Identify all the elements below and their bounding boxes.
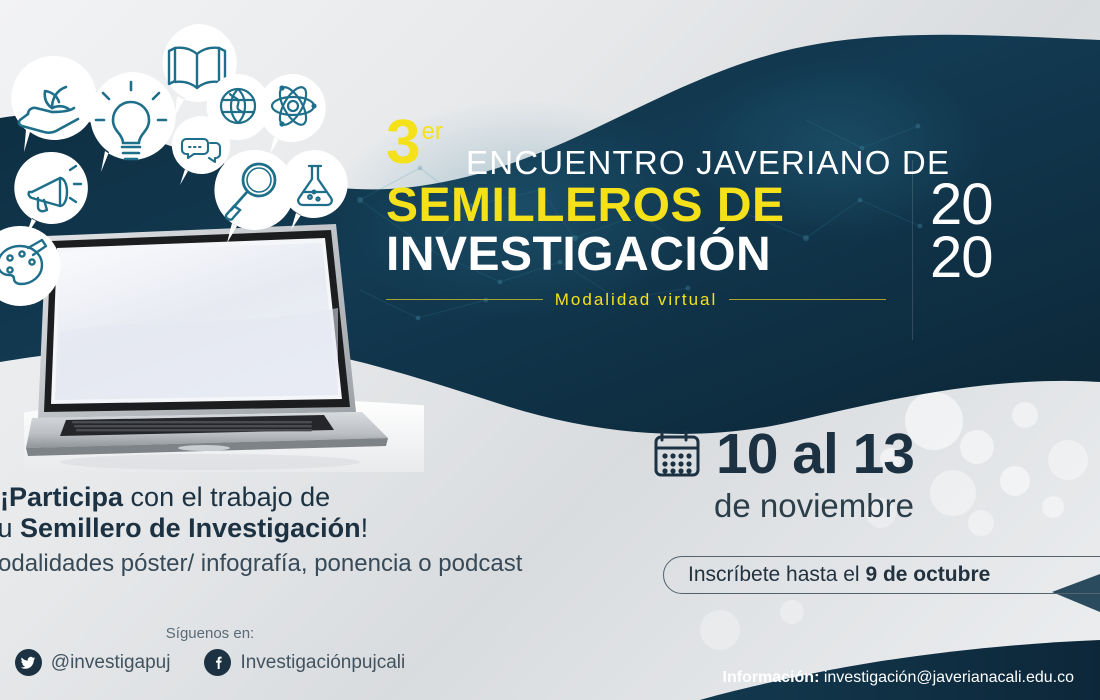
year-bottom: 20 bbox=[930, 231, 993, 284]
date-range: 10 al 13 bbox=[716, 428, 914, 480]
social-label: Síguenos en: bbox=[0, 625, 420, 642]
promo-line1-rest: con el trabajo de bbox=[123, 482, 330, 512]
promo-line-1: ¡Participa con el trabajo de bbox=[0, 482, 578, 513]
promo-line2-post: ! bbox=[361, 513, 369, 543]
promo-semillero: Semillero de Investigación bbox=[20, 513, 361, 543]
promo-modalities: Modalidades póster/ infografía, ponencia… bbox=[0, 550, 578, 578]
ordinal-row: 3 er ENCUENTRO JAVERIANO DE bbox=[386, 118, 916, 174]
calendar-icon bbox=[652, 428, 702, 485]
year-block: 20 20 bbox=[930, 178, 993, 285]
social-row: @investigapuj Investigaciónpujcali bbox=[0, 649, 420, 676]
ordinal-suffix: er bbox=[421, 120, 442, 144]
social-item-facebook[interactable]: Investigaciónpujcali bbox=[204, 649, 405, 676]
promo-copy: ¡Participa con el trabajo de tu Semiller… bbox=[0, 482, 578, 578]
promo-participa: ¡Participa bbox=[0, 482, 123, 512]
modality-row: Modalidad virtual bbox=[386, 290, 886, 310]
promo-line-2: tu Semillero de Investigación! bbox=[0, 513, 578, 544]
megaphone-icon bbox=[6, 148, 98, 246]
year-divider bbox=[912, 160, 913, 340]
twitter-icon[interactable] bbox=[15, 649, 42, 676]
flask-icon bbox=[272, 146, 358, 238]
year-top: 20 bbox=[930, 178, 993, 231]
event-date-block: 10 al 13 de noviembre bbox=[652, 428, 914, 525]
ordinal-number: 3 bbox=[386, 118, 420, 169]
deadline-pill: Inscríbete hasta el 9 de octubre bbox=[663, 556, 1100, 594]
deadline-text: Inscríbete hasta el 9 de octubre bbox=[688, 563, 990, 587]
social-item-twitter[interactable]: @investigapuj bbox=[15, 649, 171, 676]
laptop-illustration bbox=[24, 222, 424, 472]
event-banner: 3 er ENCUENTRO JAVERIANO DE SEMILLEROS D… bbox=[0, 0, 1100, 700]
deadline-date: 9 de octubre bbox=[865, 563, 990, 586]
info-bar-shape bbox=[700, 640, 1100, 700]
modality-rule-right bbox=[729, 299, 886, 300]
twitter-handle[interactable]: @investigapuj bbox=[51, 652, 171, 674]
promo-line2-pre: tu bbox=[0, 513, 20, 543]
date-month: de noviembre bbox=[652, 487, 914, 525]
date-row: 10 al 13 bbox=[652, 428, 914, 485]
social-block: Síguenos en: @investigapuj Investigación… bbox=[0, 625, 420, 676]
facebook-icon[interactable] bbox=[204, 649, 231, 676]
modality-label: Modalidad virtual bbox=[555, 290, 718, 310]
title-line-semilleros: SEMILLEROS DE bbox=[386, 182, 916, 231]
title-line-investigacion: INVESTIGACIÓN bbox=[386, 231, 916, 280]
modality-rule-left bbox=[386, 299, 543, 300]
title-line-encuentro: ENCUENTRO JAVERIANO DE bbox=[466, 144, 950, 182]
facebook-handle[interactable]: Investigaciónpujcali bbox=[240, 652, 405, 674]
event-title-block: 3 er ENCUENTRO JAVERIANO DE SEMILLEROS D… bbox=[386, 118, 916, 310]
deadline-prefix: Inscríbete hasta el bbox=[688, 563, 865, 586]
